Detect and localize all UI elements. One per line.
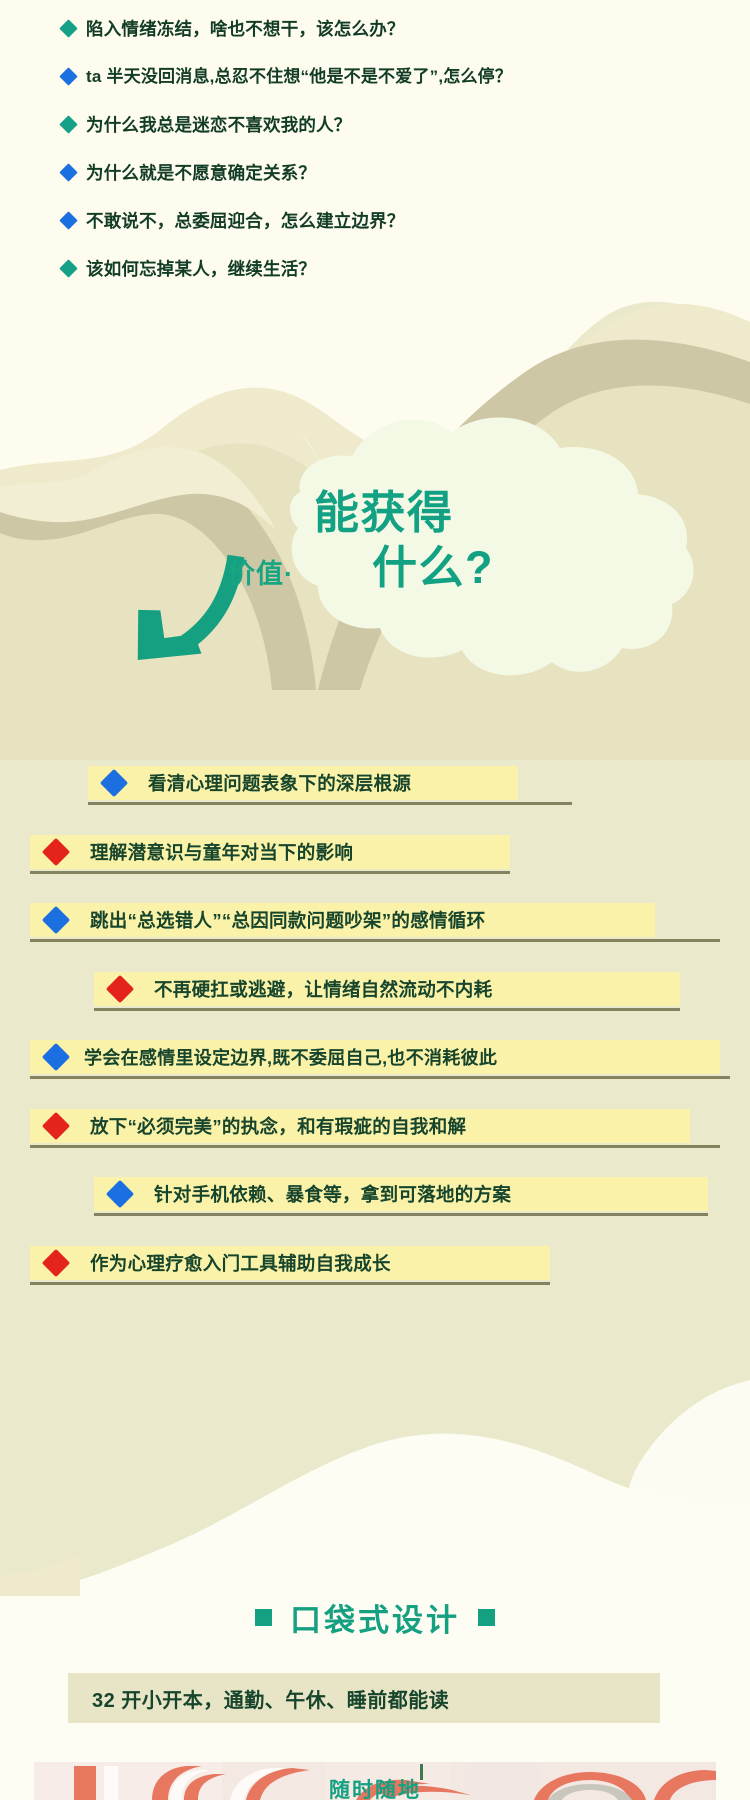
highlight-bar: 放下“必须完美”的执念，和有瑕疵的自我和解 (30, 1109, 690, 1143)
benefit-text: 理解潜意识与童年对当下的影响 (90, 839, 353, 865)
list-item: 陷入情绪冻结，啥也不想干，该怎么办？ (0, 14, 750, 62)
list-item: 为什么我总是迷恋不喜欢我的人？ (0, 110, 750, 158)
heading-kicker: 价值· (228, 552, 294, 591)
diamond-icon (59, 19, 77, 37)
list-item: 为什么就是不愿意确定关系？ (0, 158, 750, 206)
list-item: ta 半天没回消息,总忍不住想“他是不是不爱了”,怎么停？ (0, 62, 750, 110)
underline-rule (94, 1008, 680, 1011)
highlight-bar: 看清心理问题表象下的深层根源 (88, 766, 518, 800)
list-item: 针对手机依赖、暴食等，拿到可落地的方案 (0, 1177, 750, 1223)
underline-rule (88, 802, 572, 805)
square-icon (255, 1609, 272, 1626)
benefit-text: 不再硬扛或逃避，让情绪自然流动不内耗 (154, 976, 492, 1002)
benefit-text: 学会在感情里设定边界,既不委屈自己,也不消耗彼此 (84, 1044, 497, 1070)
diamond-icon (42, 1043, 70, 1071)
underline-rule (94, 1213, 708, 1216)
underline-rule (30, 1145, 720, 1148)
pocket-title-text: 口袋式设计 (290, 1595, 460, 1640)
diamond-icon (106, 974, 134, 1002)
diamond-icon (42, 906, 70, 934)
underline-rule (30, 939, 720, 942)
underline-rule (30, 1282, 550, 1285)
diamond-icon (59, 163, 77, 181)
question-text: 该如何忘掉某人，继续生活？ (86, 254, 316, 284)
diamond-icon (59, 211, 77, 229)
benefit-text: 作为心理疗愈入门工具辅助自我成长 (90, 1250, 391, 1276)
diamond-icon (42, 1111, 70, 1139)
diamond-icon (100, 769, 128, 797)
list-item: 作为心理疗愈入门工具辅助自我成长 (0, 1246, 750, 1292)
highlight-bar: 理解潜意识与童年对当下的影响 (30, 835, 510, 869)
list-item: 跳出“总选错人”“总因同款问题吵架”的感情循环 (0, 903, 750, 949)
question-text: 为什么我总是迷恋不喜欢我的人？ (86, 110, 352, 140)
list-item: 学会在感情里设定边界,既不委屈自己,也不消耗彼此 (0, 1040, 750, 1086)
pocket-banner-text: 32 开小开本，通勤、午休、睡前都能读 (92, 1684, 449, 1713)
diamond-icon (106, 1180, 134, 1208)
pocket-banner: 32 开小开本，通勤、午休、睡前都能读 (68, 1673, 660, 1723)
benefit-list: 看清心理问题表象下的深层根源 理解潜意识与童年对当下的影响 跳出“总选错人”“总… (0, 766, 750, 1314)
benefit-text: 针对手机依赖、暴食等，拿到可落地的方案 (154, 1181, 511, 1207)
diamond-icon (42, 837, 70, 865)
diamond-icon (59, 67, 77, 85)
highlight-bar: 针对手机依赖、暴食等，拿到可落地的方案 (94, 1177, 708, 1211)
highlight-bar: 学会在感情里设定边界,既不委屈自己,也不消耗彼此 (30, 1040, 720, 1074)
question-list: 陷入情绪冻结，啥也不想干，该怎么办？ ta 半天没回消息,总忍不住想“他是不是不… (0, 0, 750, 302)
question-text: 为什么就是不愿意确定关系？ (86, 158, 316, 188)
square-icon (478, 1609, 495, 1626)
benefit-text: 放下“必须完美”的执念，和有瑕疵的自我和解 (90, 1113, 466, 1139)
diamond-icon (42, 1248, 70, 1276)
poster-page: 陷入情绪冻结，啥也不想干，该怎么办？ ta 半天没回消息,总忍不住想“他是不是不… (0, 0, 750, 1800)
pocket-section-title: 口袋式设计 (0, 1595, 750, 1640)
highlight-bar: 跳出“总选错人”“总因同款问题吵架”的感情循环 (30, 903, 655, 937)
list-item: 理解潜意识与童年对当下的影响 (0, 835, 750, 881)
question-text: 陷入情绪冻结，啥也不想干，该怎么办？ (86, 14, 405, 44)
underline-rule (30, 1076, 730, 1079)
list-item: 看清心理问题表象下的深层根源 (0, 766, 750, 812)
bottom-strip-label: 随时随地 (34, 1774, 716, 1800)
list-item: 该如何忘掉某人，继续生活？ (0, 254, 750, 302)
list-item: 不敢说不，总委屈迎合，怎么建立边界？ (0, 206, 750, 254)
highlight-bar: 作为心理疗愈入门工具辅助自我成长 (30, 1246, 550, 1280)
underline-rule (30, 871, 510, 874)
diamond-icon (59, 259, 77, 277)
bottom-photo-strip: 随时随地 (34, 1762, 716, 1800)
section-heading: 价值· 能获得 什么? (0, 470, 750, 655)
list-item: 放下“必须完美”的执念，和有瑕疵的自我和解 (0, 1109, 750, 1155)
heading-line-2: 什么? (372, 545, 494, 590)
heading-line-1: 能获得 (314, 490, 454, 535)
question-text: ta 半天没回消息,总忍不住想“他是不是不爱了”,怎么停？ (86, 62, 512, 92)
benefit-text: 看清心理问题表象下的深层根源 (148, 770, 411, 796)
list-item: 不再硬扛或逃避，让情绪自然流动不内耗 (0, 972, 750, 1018)
benefit-text: 跳出“总选错人”“总因同款问题吵架”的感情循环 (90, 907, 485, 933)
highlight-bar: 不再硬扛或逃避，让情绪自然流动不内耗 (94, 972, 680, 1006)
diamond-icon (59, 115, 77, 133)
question-text: 不敢说不，总委屈迎合，怎么建立边界？ (86, 206, 405, 236)
